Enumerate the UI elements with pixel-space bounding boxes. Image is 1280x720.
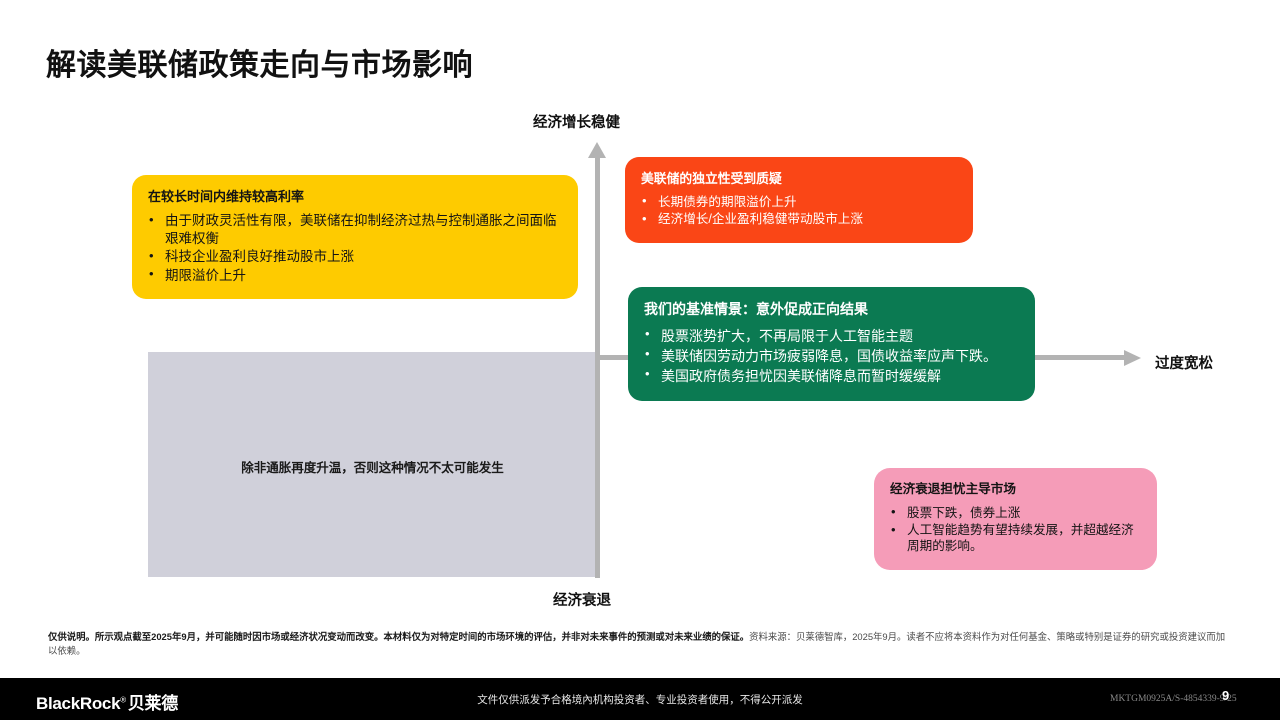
quadrant-note: 除非通胀再度升温，否则这种情况不太可能发生 (148, 457, 597, 476)
callout-recession-fears: 经济衰退担忧主导市场 股票下跌，债券上涨 人工智能趋势有望持续发展，并超越经济周… (874, 468, 1157, 570)
list-item: 股票下跌，债券上涨 (890, 505, 1141, 521)
callout-bullet-list: 股票涨势扩大，不再局限于人工智能主题 美联储因劳动力市场疲弱降息，国债收益率应声… (644, 327, 1019, 386)
arrow-right-icon (1124, 350, 1141, 366)
arrow-up-icon (588, 142, 606, 158)
vertical-axis-line (595, 156, 600, 578)
footnote-disclaimer: 仅供说明。所示观点截至2025年9月，并可能随时因市场或经济状况变动而改变。本材… (48, 630, 1233, 657)
footer-distribution-notice: 文件仅供派发予合格境內机构投资者、专业投资者使用，不得公开派发 (0, 692, 1280, 707)
list-item: 美国政府债务担忧因美联储降息而暂时缓缓解 (644, 367, 1019, 385)
callout-heading: 美联储的独立性受到质疑 (641, 171, 957, 187)
callout-bullet-list: 长期债券的期限溢价上升 经济增长/企业盈利稳健带动股市上涨 (641, 194, 957, 228)
axis-label-top: 经济增长稳健 (533, 111, 620, 132)
list-item: 期限溢价上升 (148, 267, 562, 285)
slide-canvas: 解读美联储政策走向与市场影响 除非通胀再度升温，否则这种情况不太可能发生 经济增… (0, 0, 1280, 720)
list-item: 长期债券的期限溢价上升 (641, 194, 957, 210)
page-number: 9 (1222, 688, 1229, 703)
callout-heading: 在较长时间内维持较高利率 (148, 189, 562, 205)
list-item: 由于财政灵活性有限，美联储在抑制经济过热与控制通胀之间面临艰难权衡 (148, 212, 562, 247)
footnote-bold-part: 仅供说明。所示观点截至2025年9月，并可能随时因市场或经济状况变动而改变。本材… (48, 631, 749, 642)
callout-bullet-list: 由于财政灵活性有限，美联储在抑制经济过热与控制通胀之间面临艰难权衡 科技企业盈利… (148, 212, 562, 284)
list-item: 股票涨势扩大，不再局限于人工智能主题 (644, 327, 1019, 345)
axis-label-right: 过度宽松 (1155, 352, 1213, 373)
callout-high-rates: 在较长时间内维持较高利率 由于财政灵活性有限，美联储在抑制经济过热与控制通胀之间… (132, 175, 578, 299)
callout-fed-independence: 美联储的独立性受到质疑 长期债券的期限溢价上升 经济增长/企业盈利稳健带动股市上… (625, 157, 973, 243)
footer-compliance-code: MKTGM0925A/S-4854339-9/25 (1110, 694, 1237, 704)
list-item: 美联储因劳动力市场疲弱降息，国债收益率应声下跌。 (644, 347, 1019, 365)
callout-bullet-list: 股票下跌，债券上涨 人工智能趋势有望持续发展，并超越经济周期的影响。 (890, 505, 1141, 555)
list-item: 人工智能趋势有望持续发展，并超越经济周期的影响。 (890, 522, 1141, 555)
callout-heading: 经济衰退担忧主导市场 (890, 482, 1141, 498)
list-item: 科技企业盈利良好推动股市上涨 (148, 248, 562, 266)
axis-label-bottom: 经济衰退 (553, 589, 611, 610)
page-title: 解读美联储政策走向与市场影响 (46, 40, 473, 84)
callout-heading: 我们的基准情景：意外促成正向结果 (644, 301, 1019, 319)
list-item: 经济增长/企业盈利稳健带动股市上涨 (641, 211, 957, 227)
callout-base-case: 我们的基准情景：意外促成正向结果 股票涨势扩大，不再局限于人工智能主题 美联储因… (628, 287, 1035, 401)
